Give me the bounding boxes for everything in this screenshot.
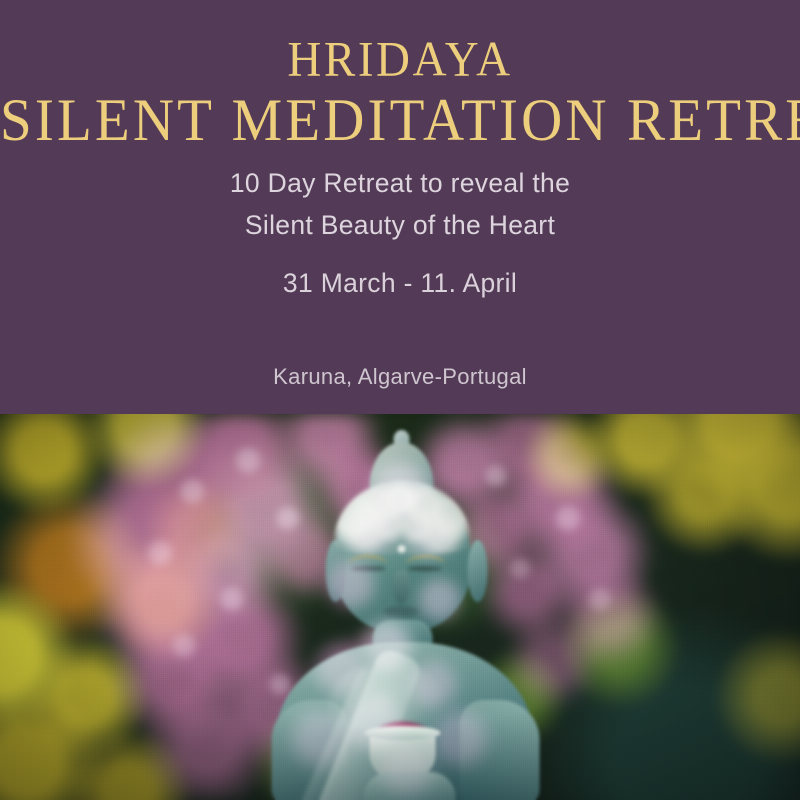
title-line-secondary: SILENT MEDITATION RETREAT xyxy=(0,88,800,153)
buddha-garden-photo xyxy=(0,414,800,800)
poster-title: HRIDAYA SILENT MEDITATION RETREAT xyxy=(0,33,800,149)
poster-subtitle: 10 Day Retreat to reveal the Silent Beau… xyxy=(0,163,800,247)
date-range: 31 March - 11. April xyxy=(0,268,800,299)
poster-dates: 31 March - 11. April xyxy=(0,268,800,299)
poster-text-band: HRIDAYA SILENT MEDITATION RETREAT 10 Day… xyxy=(0,0,800,414)
subtitle-line-1: 10 Day Retreat to reveal the xyxy=(0,163,800,205)
subtitle-line-2: Silent Beauty of the Heart xyxy=(0,205,800,247)
buddha-statue xyxy=(242,414,572,800)
title-line-primary: HRIDAYA xyxy=(0,33,800,86)
retreat-poster: HRIDAYA SILENT MEDITATION RETREAT 10 Day… xyxy=(0,0,800,800)
location-text: Karuna, Algarve-Portugal xyxy=(0,364,800,390)
poster-location: Karuna, Algarve-Portugal xyxy=(0,364,800,390)
statue-flower-overlay xyxy=(242,414,572,800)
